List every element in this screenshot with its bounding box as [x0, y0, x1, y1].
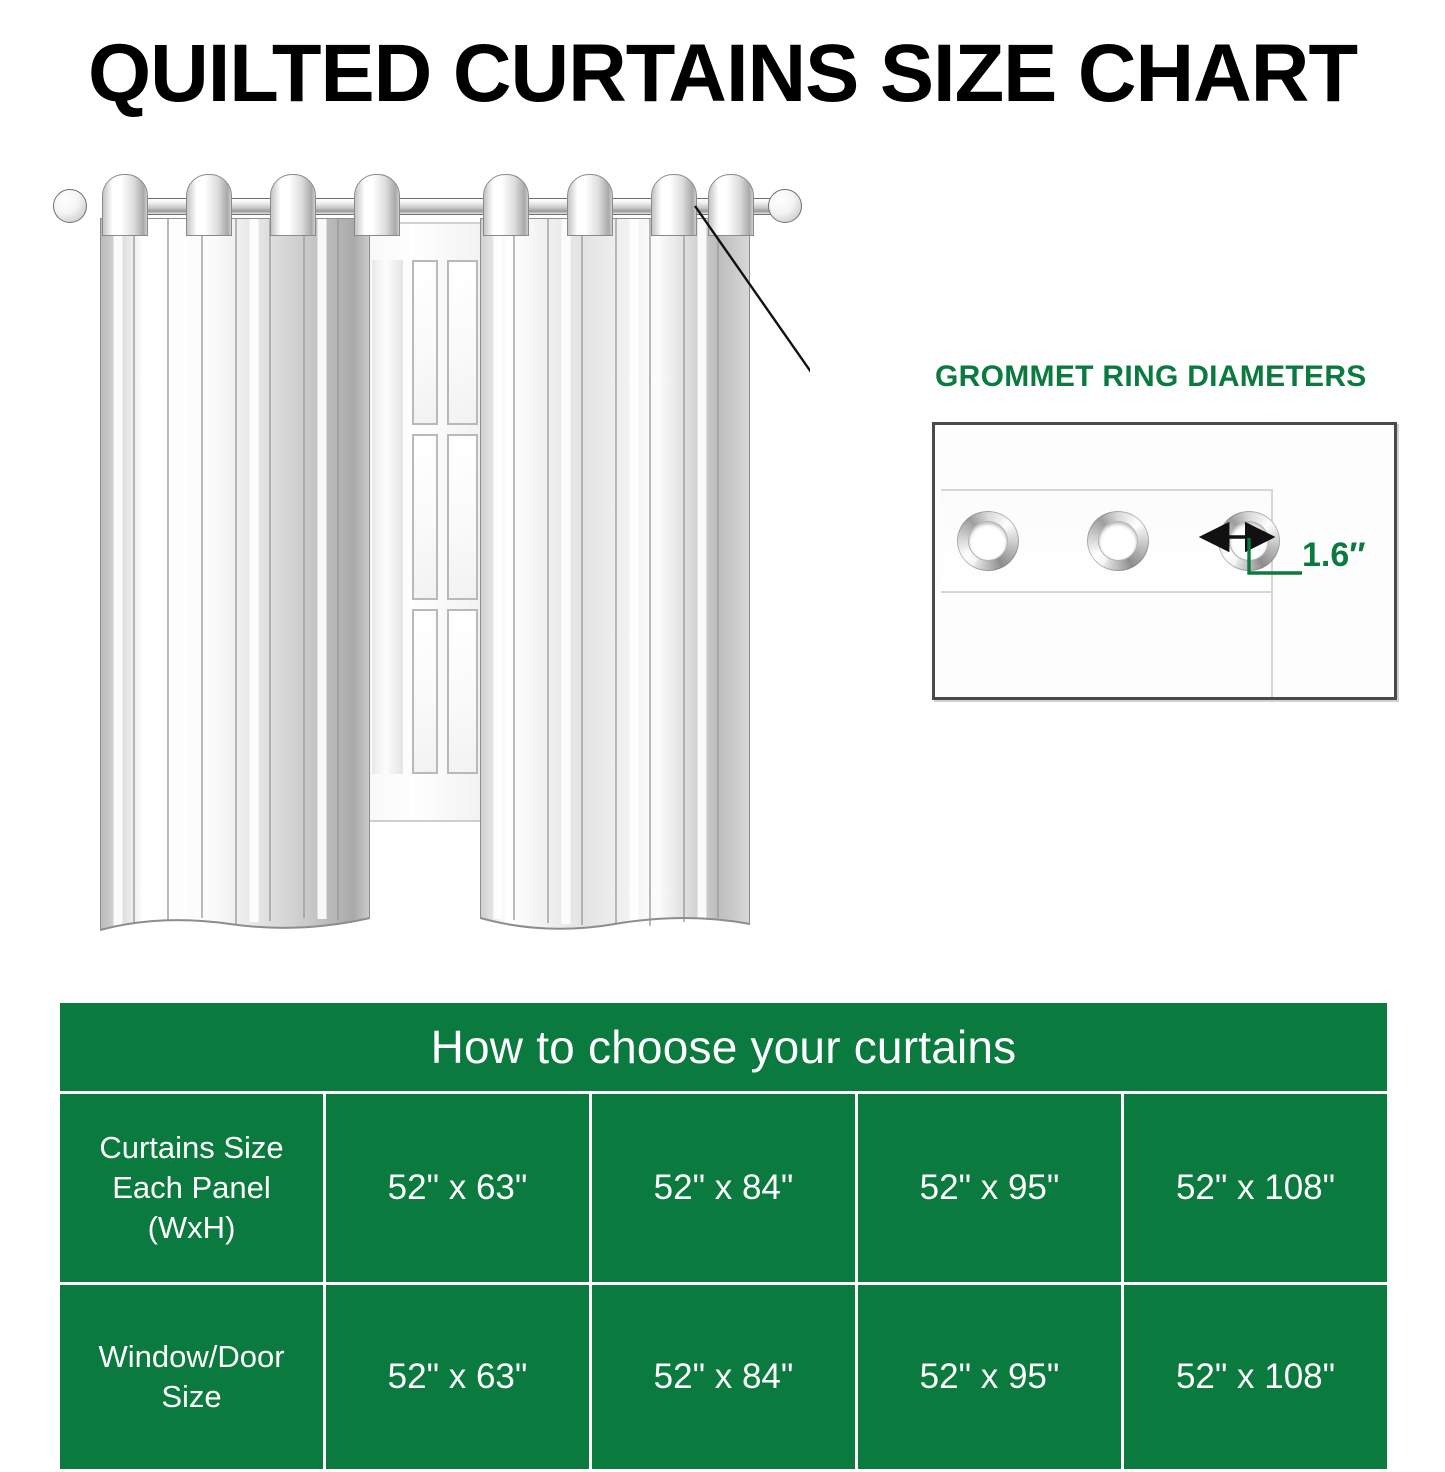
table-banner-row: How to choose your curtains — [60, 1003, 1387, 1091]
left-curtain-panel — [100, 218, 370, 938]
grommet-pleat-top — [708, 174, 754, 236]
left-finial — [53, 189, 87, 223]
table-banner: How to choose your curtains — [60, 1003, 1387, 1091]
page-title: QUILTED CURTAINS SIZE CHART — [7, 28, 1438, 120]
window-behind-curtains — [360, 222, 490, 822]
window-pane-grid — [372, 260, 478, 774]
row-label-window-door-size: Window/Door Size — [60, 1285, 323, 1469]
grommet-pleat-top — [270, 174, 316, 236]
window-pane — [412, 609, 438, 774]
row-label-line: Window/Door — [66, 1337, 317, 1377]
table-cell: 52" x 95" — [858, 1094, 1121, 1282]
grommet-detail-block: GROMMET RING DIAMETERS 1.6″ — [930, 360, 1400, 710]
right-curtain-panel — [480, 218, 750, 938]
table-cell: 52" x 84" — [592, 1285, 855, 1469]
row-label-line: (WxH) — [66, 1208, 317, 1248]
right-finial — [768, 189, 802, 223]
table-row: Window/Door Size 52" x 63" 52" x 84" 52"… — [60, 1285, 1387, 1469]
curtain-illustration — [40, 170, 810, 970]
grommet-pleat-top — [651, 174, 697, 236]
grommet-ring-icon — [957, 511, 1019, 571]
grommet-pleat-top — [567, 174, 613, 236]
row-label-line: Size — [66, 1377, 317, 1417]
window-pane — [412, 260, 438, 425]
table-cell: 52" x 63" — [326, 1285, 589, 1469]
right-panel-fabric — [480, 218, 750, 938]
table-cell: 52" x 108" — [1124, 1285, 1387, 1469]
grommet-section-heading: GROMMET RING DIAMETERS — [935, 360, 1400, 394]
row-label-line: Curtains Size — [66, 1128, 317, 1168]
table-cell: 52" x 84" — [592, 1094, 855, 1282]
grommet-pleat-top — [102, 174, 148, 236]
window-pane — [447, 609, 478, 774]
grommet-ring-icon — [1218, 511, 1280, 571]
grommet-ring-icon — [1087, 511, 1149, 571]
table-row: Curtains Size Each Panel (WxH) 52" x 63"… — [60, 1094, 1387, 1282]
window-pane — [447, 260, 478, 425]
table-cell: 52" x 63" — [326, 1094, 589, 1282]
grommet-pleat-top — [483, 174, 529, 236]
window-mullion — [372, 260, 403, 774]
grommet-pleat-top — [186, 174, 232, 236]
left-panel-fabric — [100, 218, 370, 938]
grommet-diameter-label: 1.6″ — [1302, 536, 1366, 575]
grommet-pleat-top — [354, 174, 400, 236]
table-cell: 52" x 95" — [858, 1285, 1121, 1469]
window-pane — [447, 434, 478, 599]
table-cell: 52" x 108" — [1124, 1094, 1387, 1282]
size-chart-table: How to choose your curtains Curtains Siz… — [57, 1000, 1390, 1472]
row-label-line: Each Panel — [66, 1168, 317, 1208]
row-label-curtains-size: Curtains Size Each Panel (WxH) — [60, 1094, 323, 1282]
window-pane — [412, 434, 438, 599]
